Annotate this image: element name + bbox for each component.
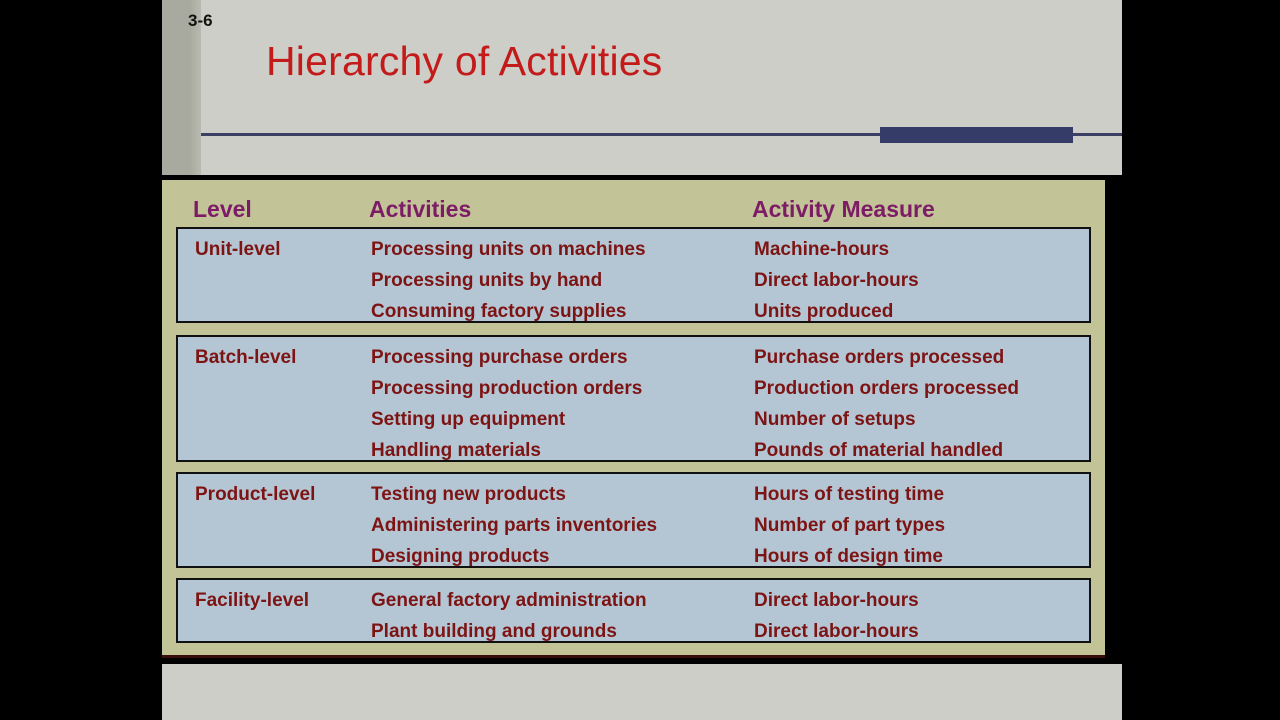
title-accent-bar xyxy=(880,127,1073,143)
level-label: Facility-level xyxy=(195,590,309,612)
slide-number: 3-6 xyxy=(188,11,213,31)
measure-label: Hours of testing time xyxy=(754,484,944,506)
activity-label: Designing products xyxy=(371,546,549,568)
measure-label: Pounds of material handled xyxy=(754,440,1003,462)
measure-label: Number of setups xyxy=(754,409,916,431)
measure-label: Hours of design time xyxy=(754,546,943,568)
activity-hierarchy-table: Level Activities Activity Measure Unit-l… xyxy=(162,180,1105,658)
measure-label: Direct labor-hours xyxy=(754,621,919,643)
measure-label: Production orders processed xyxy=(754,378,1019,400)
slide-canvas: 3-6 Hierarchy of Activities Level Activi… xyxy=(0,0,1280,720)
measure-label: Direct labor-hours xyxy=(754,270,919,292)
slide-header: 3-6 Hierarchy of Activities xyxy=(162,0,1122,175)
activity-label: Processing production orders xyxy=(371,378,642,400)
level-label: Batch-level xyxy=(195,347,296,369)
table-row: Batch-level Processing purchase orders P… xyxy=(176,335,1091,462)
activity-label: Processing purchase orders xyxy=(371,347,628,369)
measure-label: Number of part types xyxy=(754,515,945,537)
activity-label: Administering parts inventories xyxy=(371,515,657,537)
measure-label: Machine-hours xyxy=(754,239,889,261)
activity-label: Plant building and grounds xyxy=(371,621,617,643)
measure-label: Purchase orders processed xyxy=(754,347,1004,369)
level-label: Unit-level xyxy=(195,239,281,261)
measure-label: Direct labor-hours xyxy=(754,590,919,612)
column-header-activities: Activities xyxy=(369,196,471,223)
table-header-row: Level Activities Activity Measure xyxy=(162,180,1105,227)
column-header-level: Level xyxy=(193,196,252,223)
activity-label: Handling materials xyxy=(371,440,541,462)
activity-label: Setting up equipment xyxy=(371,409,565,431)
page-title: Hierarchy of Activities xyxy=(266,38,663,85)
activity-label: Consuming factory supplies xyxy=(371,301,626,323)
table-row: Product-level Testing new products Hours… xyxy=(176,472,1091,568)
table-row: Facility-level General factory administr… xyxy=(176,578,1091,643)
activity-label: General factory administration xyxy=(371,590,647,612)
table-row: Unit-level Processing units on machines … xyxy=(176,227,1091,323)
column-header-activity-measure: Activity Measure xyxy=(752,196,935,223)
activity-label: Processing units on machines xyxy=(371,239,646,261)
slide-footer-area xyxy=(162,664,1122,720)
activity-label: Testing new products xyxy=(371,484,566,506)
measure-label: Units produced xyxy=(754,301,893,323)
activity-label: Processing units by hand xyxy=(371,270,602,292)
level-label: Product-level xyxy=(195,484,315,506)
